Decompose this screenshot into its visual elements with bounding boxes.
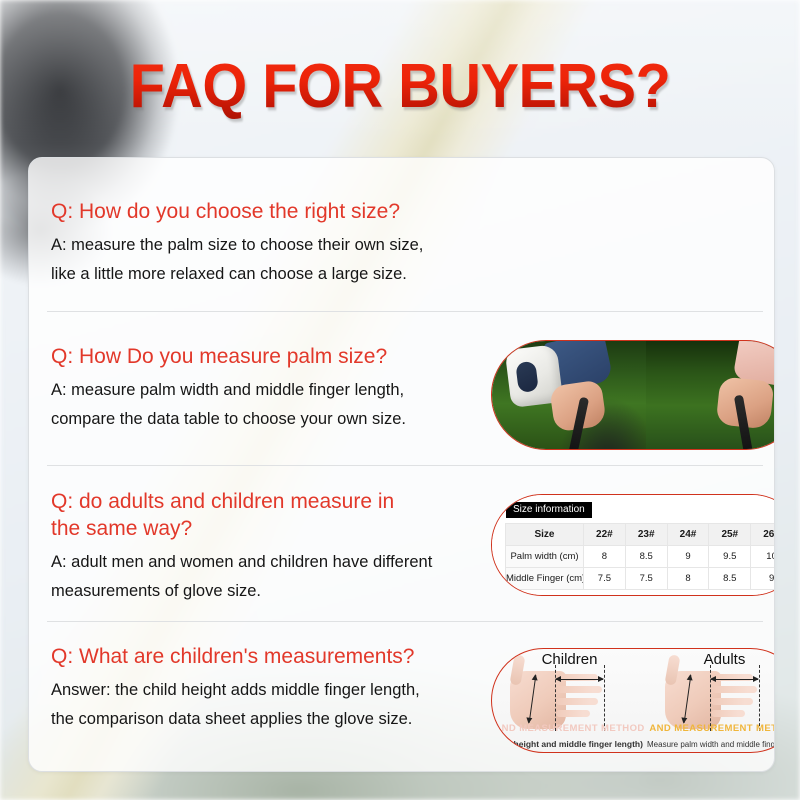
table-cell: Palm width (cm) bbox=[506, 546, 584, 568]
hand-diagram-children-caption-bottom: l on height and middle finger length) bbox=[492, 739, 647, 749]
finger-shape bbox=[556, 686, 602, 693]
faq-text-3: Q: do adults and children measure in the… bbox=[51, 488, 481, 606]
faq-question-1: Q: How do you choose the right size? bbox=[51, 198, 481, 225]
table-row: Middle Finger (cm) 7.5 7.5 8 8.5 9 bbox=[506, 568, 776, 590]
faq-divider-3 bbox=[47, 621, 763, 622]
finger-length-arrow-icon bbox=[556, 679, 603, 680]
faq-answer-1: A: measure the palm size to choose their… bbox=[51, 231, 481, 289]
adult-size-table: Size information Size 22# 23# 24# 25# 26… bbox=[491, 494, 775, 596]
faq-question-2: Q: How Do you measure palm size? bbox=[51, 343, 481, 370]
faq-text-2: Q: How Do you measure palm size? A: meas… bbox=[51, 343, 481, 434]
golf-photo-gloved bbox=[492, 341, 646, 449]
finger-shape bbox=[556, 710, 590, 717]
table-cell: Middle Finger (cm) bbox=[506, 568, 584, 590]
table-cell: 9 bbox=[667, 546, 709, 568]
table-cell: 8 bbox=[667, 568, 709, 590]
measure-guide-line bbox=[555, 665, 556, 731]
finger-shape bbox=[711, 710, 745, 717]
adult-size-table-body: Size information Size 22# 23# 24# 25# 26… bbox=[492, 495, 775, 595]
faq-question-4: Q: What are children's measurements? bbox=[51, 643, 481, 670]
finger-shape bbox=[711, 698, 753, 705]
table-cell: 7.5 bbox=[584, 568, 626, 590]
table-cell: 10 bbox=[751, 546, 775, 568]
hand-diagram-adults-caption-top: AND MEASUREMENT METHOD bbox=[647, 723, 775, 734]
measure-guide-line bbox=[604, 665, 605, 731]
table-cell: 9.5 bbox=[709, 546, 751, 568]
hand-diagram-adults-title: Adults bbox=[647, 651, 775, 668]
finger-shape bbox=[556, 698, 598, 705]
golf-grip-photos bbox=[491, 340, 775, 450]
table-cell: 8 bbox=[584, 546, 626, 568]
hand-diagram-children-caption-top: AND MEASUREMENT METHOD bbox=[492, 723, 647, 734]
golf-photo-bare bbox=[646, 341, 775, 449]
faq-divider-2 bbox=[47, 465, 763, 466]
adult-size-table-label: Size information bbox=[506, 502, 592, 518]
table-cell: 24# bbox=[667, 524, 709, 546]
faq-card: Q: How do you choose the right size? A: … bbox=[28, 157, 775, 772]
faq-answer-2: A: measure palm width and middle finger … bbox=[51, 376, 481, 434]
table-cell: 25# bbox=[709, 524, 751, 546]
hand-measurement-diagram: Children AND MEASUREMENT METHOD l on hei… bbox=[491, 648, 775, 753]
faq-divider-1 bbox=[47, 311, 763, 312]
table-cell: 26# bbox=[751, 524, 775, 546]
table-cell: 7.5 bbox=[625, 568, 667, 590]
table-cell: 22# bbox=[584, 524, 626, 546]
hand-diagram-children: Children AND MEASUREMENT METHOD l on hei… bbox=[492, 649, 647, 752]
page-title: FAQ FOR BUYERS? bbox=[28, 50, 772, 124]
adult-size-table-grid: Size 22# 23# 24# 25# 26# Palm width (cm)… bbox=[505, 523, 775, 590]
faq-text-4: Q: What are children's measurements? Ans… bbox=[51, 643, 481, 734]
table-cell: 8.5 bbox=[709, 568, 751, 590]
measure-guide-line bbox=[759, 665, 760, 731]
table-cell: 9 bbox=[751, 568, 775, 590]
faq-answer-4: Answer: the child height adds middle fin… bbox=[51, 676, 481, 734]
faq-question-3: Q: do adults and children measure in the… bbox=[51, 488, 481, 542]
table-cell: 23# bbox=[625, 524, 667, 546]
faq-answer-3: A: adult men and women and children have… bbox=[51, 548, 481, 606]
table-row: Size 22# 23# 24# 25# 26# bbox=[506, 524, 776, 546]
finger-length-arrow-icon bbox=[711, 679, 758, 680]
finger-shape bbox=[711, 686, 757, 693]
table-cell: Size bbox=[506, 524, 584, 546]
hand-diagram-adults: Adults AND MEASUREMENT METHOD Measure pa… bbox=[647, 649, 775, 752]
measure-guide-line bbox=[710, 665, 711, 731]
faq-text-1: Q: How do you choose the right size? A: … bbox=[51, 198, 481, 289]
table-cell: 8.5 bbox=[625, 546, 667, 568]
hand-diagram-adults-caption-bottom: Measure palm width and middle finger len… bbox=[647, 740, 775, 749]
table-row: Palm width (cm) 8 8.5 9 9.5 10 bbox=[506, 546, 776, 568]
